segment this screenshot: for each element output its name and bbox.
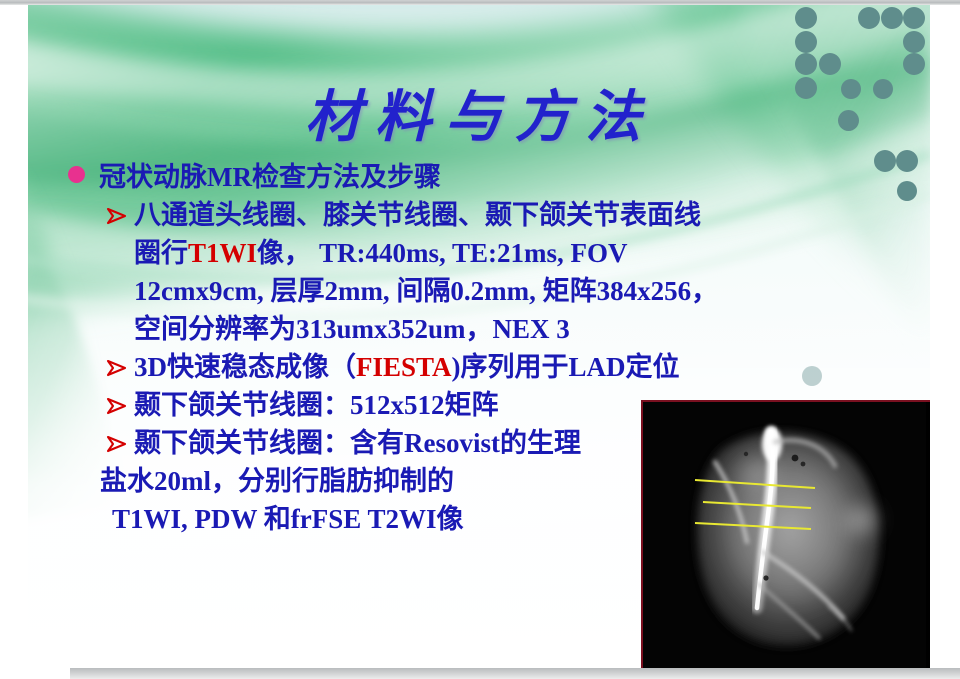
cardiac-mr-angiogram-image — [641, 400, 932, 674]
slide-left-margin — [0, 0, 28, 679]
arrow-bullet-icon — [106, 427, 128, 449]
list-item-label: T1WI, PDW 和frFSE T2WI像 — [112, 504, 464, 534]
list-item-label: 颞下颌关节线圈：含有Resovist的生理 — [134, 428, 581, 458]
bullet-heading-label: 冠状动脉MR检查方法及步骤 — [99, 162, 441, 192]
list-item-label: 空间分辨率为313umx352um，NEX 3 — [134, 314, 570, 344]
window-top-strip — [0, 0, 960, 5]
slide-right-margin — [930, 0, 960, 679]
list-item-label: 颞下颌关节线圈：512x512矩阵 — [134, 390, 499, 420]
list-item-label: 八通道头线圈、膝关节线圈、颞下颌关节表面线 — [134, 200, 701, 230]
slide-canvas: 材料与方法 冠状动脉MR检查方法及步骤 八通道头线圈、膝关节线圈、颞下颌关节表面… — [0, 0, 960, 679]
arrow-bullet-icon — [106, 199, 128, 221]
page-title: 材料与方法 — [0, 72, 960, 153]
bullet-dot-icon — [68, 166, 85, 183]
arrow-bullet-icon — [106, 389, 128, 411]
list-item-label-part: )序列用于LAD定位 — [452, 352, 680, 382]
list-item-params: TR:440ms, TE:21ms, FOV — [319, 238, 628, 268]
list-item-continuation: 空间分辨率为313umx352um，NEX 3 — [134, 310, 930, 348]
list-item-label: 12cmx9cm, 层厚2mm, 间隔0.2mm, 矩阵384x256， — [134, 276, 718, 306]
sequence-name-highlight: T1WI — [188, 238, 257, 268]
sequence-name-highlight: FIESTA — [356, 352, 452, 382]
list-item-label-part: 3D快速稳态成像（ — [134, 352, 356, 382]
arrow-bullet-icon — [106, 351, 128, 373]
window-bottom-strip — [70, 668, 960, 679]
list-item-continuation: 圈行T1WI像，TR:440ms, TE:21ms, FOV — [134, 234, 930, 272]
list-item-label: 盐水20ml，分别行脂肪抑制的 — [100, 466, 454, 496]
list-item-label-part: 像， — [257, 238, 311, 268]
bullet-heading: 冠状动脉MR检查方法及步骤 — [68, 158, 930, 196]
list-item-label-part: 圈行 — [134, 238, 188, 268]
list-item-continuation: 12cmx9cm, 层厚2mm, 间隔0.2mm, 矩阵384x256， — [134, 272, 930, 310]
list-item: 八通道头线圈、膝关节线圈、颞下颌关节表面线 — [106, 196, 930, 234]
list-item: 3D快速稳态成像（FIESTA)序列用于LAD定位 — [106, 348, 930, 386]
